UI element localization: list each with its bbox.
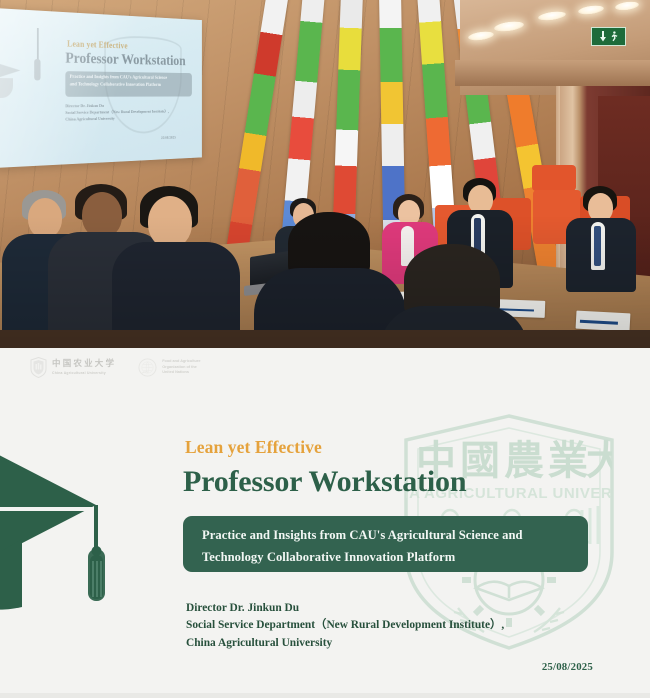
slide-byline: Director Dr. Jinkun Du Social Service De… — [186, 600, 504, 652]
graduation-cap-icon — [0, 55, 31, 102]
projected-headline: Professor Workstation — [65, 50, 185, 69]
slide-date: 25/08/2025 — [542, 661, 593, 673]
logo-row: 中国农业大学 China Agricultural University Foo… — [30, 357, 200, 378]
slide-kicker: Lean yet Effective — [185, 437, 322, 458]
fao-line-3: United Nations — [162, 370, 200, 376]
cau-logo: 中国农业大学 China Agricultural University — [30, 357, 116, 378]
subtitle-line-1: Practice and Insights from CAU's Agricul… — [202, 525, 569, 547]
projected-byline: Director Dr. Jinkun Du Social Service De… — [65, 103, 168, 123]
cau-logo-chinese: 中国农业大学 — [52, 360, 116, 369]
svg-text:農: 農 — [504, 438, 544, 484]
projected-byline-line-1: Director Dr. Jinkun Du — [65, 103, 168, 110]
slide-subtitle-box: Practice and Insights from CAU's Agricul… — [183, 516, 588, 572]
tassel-cord — [37, 28, 39, 61]
ceiling-slab — [455, 60, 650, 86]
byline-line-3: China Agricultural University — [186, 635, 504, 652]
down-arrow-icon — [599, 31, 607, 42]
projected-byline-line-3: China Agricultural University — [65, 115, 168, 123]
fao-logo: Food and Agriculture Organization of the… — [138, 358, 200, 377]
orange-chair — [532, 165, 576, 191]
fao-logo-text: Food and Agriculture Organization of the… — [162, 359, 200, 377]
byline-line-1: Director Dr. Jinkun Du — [186, 600, 504, 617]
projected-subtitle-line-2: and Technology Collaborative Innovation … — [70, 81, 189, 89]
projected-subtitle-line-1: Practice and Insights from CAU's Agricul… — [70, 74, 189, 82]
projected-subtitle-box: Practice and Insights from CAU's Agricul… — [65, 71, 192, 97]
cau-shield-icon — [30, 357, 47, 378]
graduation-cap-icon — [0, 421, 138, 611]
projected-date: 25/08/2025 — [161, 135, 176, 140]
subtitle-line-2: Technology Collaborative Innovation Plat… — [202, 547, 569, 569]
slide-bottom-edge — [0, 693, 650, 698]
fao-line-1: Food and Agriculture — [162, 359, 200, 365]
cau-logo-english: China Agricultural University — [52, 371, 116, 375]
projected-byline-line-2: Social Service Department（New Rural Deve… — [65, 109, 168, 117]
projected-watermark — [104, 35, 181, 135]
emergency-exit-sign — [591, 27, 626, 46]
title-slide: 中国农业大学 China Agricultural University Foo… — [0, 348, 650, 698]
fao-emblem-icon — [138, 358, 157, 377]
slide-headline: Professor Workstation — [183, 465, 466, 499]
projected-kicker: Lean yet Effective — [67, 39, 128, 50]
svg-text:大: 大 — [586, 438, 620, 484]
table-edge — [0, 330, 650, 348]
byline-line-2: Social Service Department（New Rural Deve… — [186, 617, 504, 634]
running-person-icon — [609, 31, 618, 42]
tassel-bob — [34, 59, 40, 80]
conference-room-photo: Lean yet Effective Professor Workstation… — [0, 0, 650, 348]
projection-screen: Lean yet Effective Professor Workstation… — [0, 8, 202, 168]
svg-text:業: 業 — [548, 438, 588, 484]
name-plate — [576, 311, 631, 332]
